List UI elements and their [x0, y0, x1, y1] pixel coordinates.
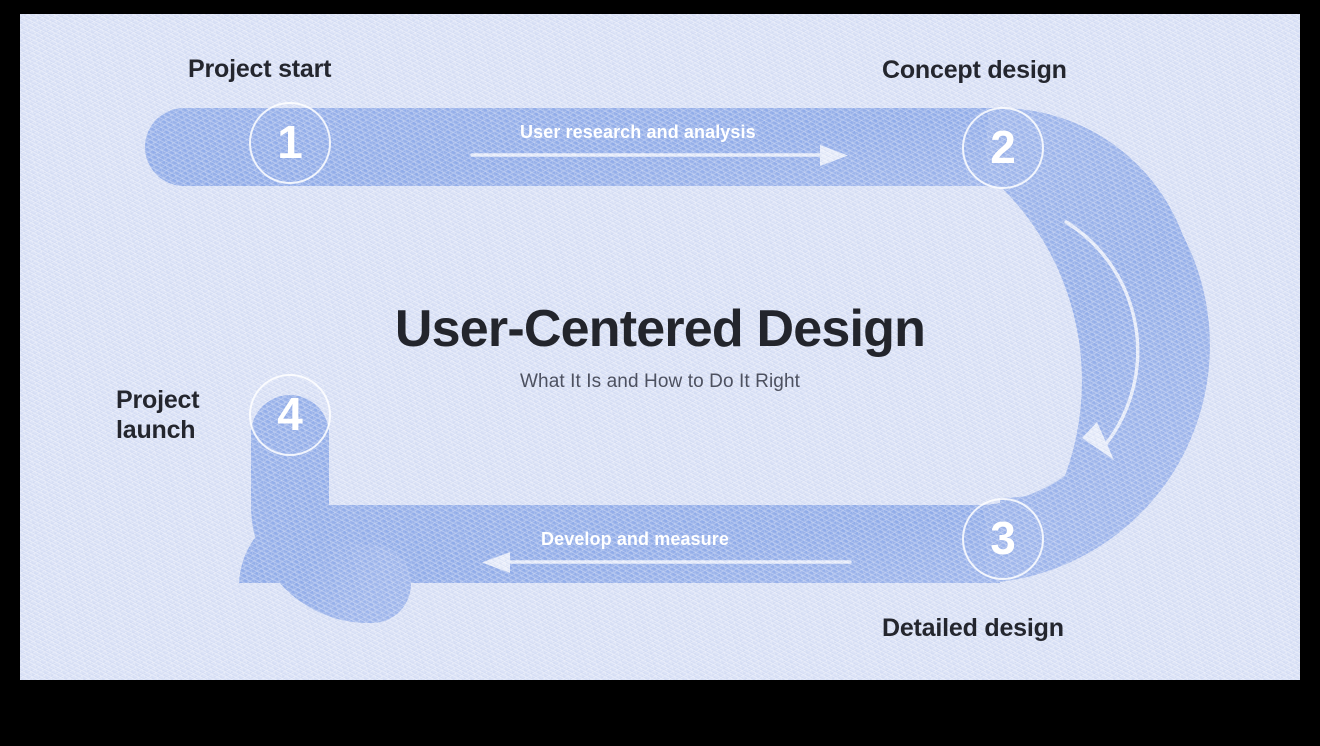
step-number-1: 1 — [277, 119, 303, 165]
connector-caption-user-research: User research and analysis — [520, 122, 756, 143]
stage-label-concept-design: Concept design — [882, 56, 1067, 86]
step-circle-3[interactable]: 3 — [962, 498, 1044, 580]
step-number-3: 3 — [990, 515, 1016, 561]
page-subtitle: What It Is and How to Do It Right — [20, 371, 1300, 393]
stage-label-detailed-design: Detailed design — [882, 614, 1064, 644]
step-number-2: 2 — [990, 124, 1016, 170]
center-title-block: User-Centered Design What It Is and How … — [20, 302, 1300, 393]
step-circle-2[interactable]: 2 — [962, 107, 1044, 189]
slide-stage: 1 2 3 4 Project start Concept design Det… — [0, 0, 1320, 746]
stage-label-project-start: Project start — [188, 55, 331, 85]
stage-label-project-launch: Project launch — [116, 386, 199, 445]
step-number-4: 4 — [277, 391, 303, 437]
page-title: User-Centered Design — [20, 302, 1300, 357]
slide-canvas: 1 2 3 4 Project start Concept design Det… — [20, 14, 1300, 680]
connector-caption-develop-measure: Develop and measure — [541, 529, 729, 550]
step-circle-1[interactable]: 1 — [249, 102, 331, 184]
